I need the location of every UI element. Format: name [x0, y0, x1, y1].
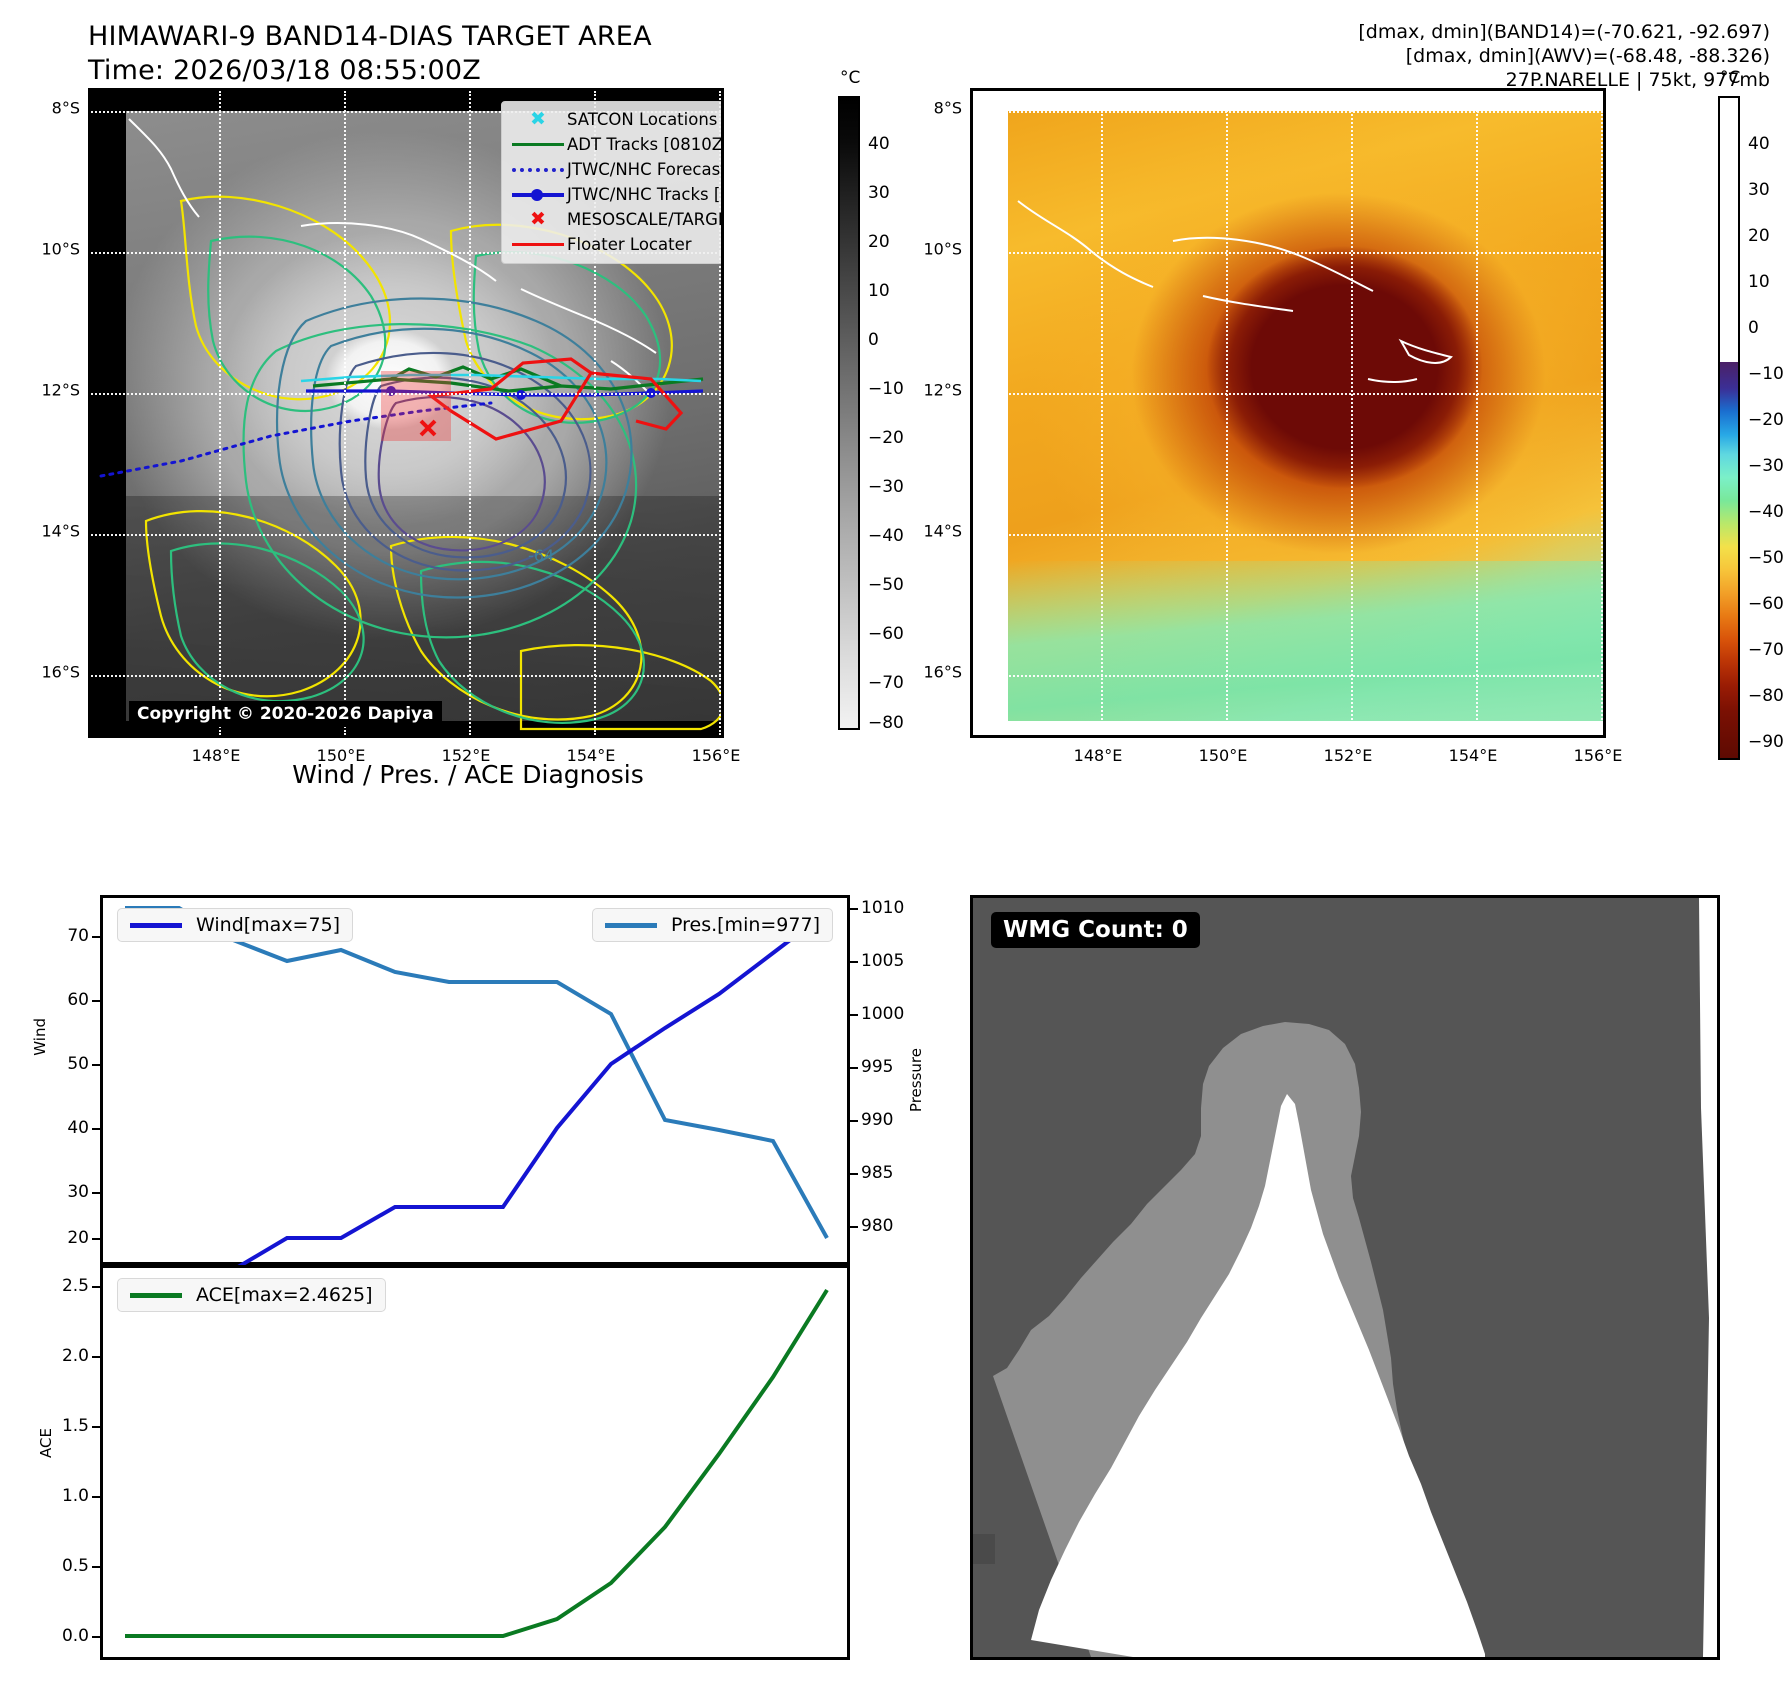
wind-line	[125, 912, 827, 1270]
wind-ytick: 70	[67, 926, 89, 946]
wmg-panel[interactable]: WMG Count: 0	[970, 895, 1720, 1660]
awv-lat-tick: 10°S	[923, 240, 962, 259]
wmg-image: WMG Count: 0	[973, 898, 1717, 1657]
awv-cbar-tick: −10	[1748, 364, 1784, 384]
awv-lon-tick: 150°E	[1199, 746, 1248, 765]
ace-tickmark	[92, 1426, 103, 1428]
pres-tickmark	[847, 908, 858, 910]
pres-ytick: 980	[861, 1216, 893, 1236]
pres-tickmark	[847, 1014, 858, 1016]
awv-gridline-lon-154e	[1476, 91, 1478, 735]
wmg-count-badge: WMG Count: 0	[991, 912, 1200, 948]
awv-cbar-tick: −60	[1748, 594, 1784, 614]
ir-gridline-lon-148e	[219, 91, 221, 735]
wind-tickmark	[92, 1238, 103, 1240]
wind-ytick: 20	[67, 1228, 89, 1248]
ir-map-panel[interactable]: -64	[88, 88, 724, 738]
awv-gridline-lon-148e	[1101, 91, 1103, 735]
awv-satellite-image	[973, 91, 1603, 735]
ir-gridline-lon-150e	[344, 91, 346, 735]
ace-ytick: 1.5	[62, 1416, 89, 1436]
ace-line	[125, 1290, 827, 1636]
ace-plot[interactable]: 2.5 2.0 1.5 1.0 0.5 0.0 ACE ACE[max=2.46…	[100, 1265, 850, 1660]
wind-tickmark	[92, 936, 103, 938]
wind-tickmark	[92, 1064, 103, 1066]
awv-lat-tick: 12°S	[923, 381, 962, 400]
wind-axis-label: Wind	[31, 1018, 49, 1056]
legend-item-satcon[interactable]: ✖ SATCON Locations [0530Z 65 984]	[509, 107, 721, 132]
awv-cbar-tick: −70	[1748, 640, 1784, 660]
awv-lat-tick: 8°S	[934, 99, 962, 118]
diagnosis-title: Wind / Pres. / ACE Diagnosis	[88, 760, 848, 789]
contour-value-label: -64	[528, 546, 554, 565]
wind-ytick: 30	[67, 1182, 89, 1202]
wind-legend[interactable]: Wind[max=75]	[117, 908, 353, 942]
awv-map-panel[interactable]	[970, 88, 1606, 738]
awv-colorbar-gradient	[1718, 96, 1740, 760]
ace-legend-label: ACE[max=2.4625]	[196, 1284, 373, 1306]
ir-satellite-image: -64	[91, 91, 721, 735]
awv-gridline-lat-10s	[973, 252, 1603, 254]
legend-item-jtwc-forecast[interactable]: JTWC/NHC Forecast [18/0000Z]	[509, 157, 721, 182]
legend-item-mesoscale[interactable]: ✖ MESOSCALE/TARGET Location	[509, 207, 721, 232]
legend-label-jtwc-tracks: JTWC/NHC Tracks [18/0600Z]	[567, 185, 721, 204]
awv-cbar-tick: −50	[1748, 548, 1784, 568]
ace-tickmark	[92, 1356, 103, 1358]
awv-lon-tick: 148°E	[1074, 746, 1123, 765]
legend-label-satcon: SATCON Locations [0530Z 65 984]	[567, 110, 721, 129]
x-marker-icon: ✖	[509, 210, 567, 229]
awv-gridline-lat-12s	[973, 393, 1603, 395]
awv-lon-tick: 156°E	[1574, 746, 1623, 765]
ace-ytick: 2.0	[62, 1346, 89, 1366]
legend-item-jtwc-tracks[interactable]: JTWC/NHC Tracks [18/0600Z]	[509, 182, 721, 207]
legend-label-floater: Floater Locater	[567, 235, 692, 254]
pressure-legend[interactable]: Pres.[min=977]	[592, 908, 833, 942]
ace-series	[103, 1268, 847, 1657]
ace-legend[interactable]: ACE[max=2.4625]	[117, 1278, 386, 1312]
x-marker-icon: ✖	[509, 110, 567, 129]
wind-pressure-series	[103, 898, 847, 1262]
legend-label-mesoscale: MESOSCALE/TARGET Location	[567, 210, 721, 229]
dmax-dmin-awv: [dmax, dmin](AWV)=(-68.48, -88.326)	[1358, 44, 1770, 68]
awv-lon-tick: 154°E	[1449, 746, 1498, 765]
ace-ytick: 0.5	[62, 1556, 89, 1576]
awv-cbar-tick: −90	[1748, 732, 1784, 752]
awv-gridline-lon-152e	[1351, 91, 1353, 735]
ir-gridline-lat-16s	[91, 675, 721, 677]
awv-cbar-tick: 20	[1748, 226, 1770, 246]
wind-pressure-plot[interactable]: 70 60 50 40 30 20 Wind 1010 1005 1000 99…	[100, 895, 850, 1265]
awv-cbar-tick: −40	[1748, 502, 1784, 522]
ir-gridline-lat-12s	[91, 393, 721, 395]
pres-tickmark	[847, 1226, 858, 1228]
wind-legend-label: Wind[max=75]	[196, 914, 340, 936]
pres-tickmark	[847, 1067, 858, 1069]
copyright-text: Copyright © 2020-2026 Dapiya	[129, 701, 442, 727]
awv-lat-tick: 14°S	[923, 522, 962, 541]
awv-colorbar-unit: °C	[1720, 68, 1740, 88]
dmax-dmin-band14: [dmax, dmin](BAND14)=(-70.621, -92.697)	[1358, 20, 1770, 44]
awv-gridline-lon-150e	[1226, 91, 1228, 735]
wind-ytick: 50	[67, 1054, 89, 1074]
awv-gridline-lat-8s	[973, 111, 1603, 113]
pres-ytick: 1000	[861, 1004, 904, 1024]
solid-line-icon	[509, 243, 567, 246]
ir-gridline-lat-14s	[91, 534, 721, 536]
title-product-line: HIMAWARI-9 BAND14-DIAS TARGET AREA	[88, 20, 848, 54]
awv-colorbar[interactable]: °C 40 30 20 10 0 −10 −20 −30 −40 −50 −60…	[1718, 68, 1792, 738]
ace-tickmark	[92, 1636, 103, 1638]
pressure-legend-label: Pres.[min=977]	[671, 914, 820, 936]
ace-ytick: 2.5	[62, 1276, 89, 1296]
legend-label-jtwc-forecast: JTWC/NHC Forecast [18/0000Z]	[567, 160, 721, 179]
pres-ytick: 995	[861, 1057, 893, 1077]
ir-lat-axis: 8°S 10°S 12°S 14°S 16°S	[0, 88, 80, 738]
line-with-dot-icon	[509, 193, 567, 197]
awv-cbar-tick: 40	[1748, 134, 1770, 154]
ir-lat-tick: 12°S	[41, 381, 80, 400]
pres-tickmark	[847, 961, 858, 963]
wind-tickmark	[92, 1000, 103, 1002]
ir-colorbar-unit: °C	[840, 68, 860, 88]
ace-ytick: 1.0	[62, 1486, 89, 1506]
awv-gridline-lat-16s	[973, 675, 1603, 677]
awv-lat-tick: 16°S	[923, 663, 962, 682]
pres-ytick: 985	[861, 1163, 893, 1183]
awv-coastline-overlay	[973, 91, 1603, 735]
ir-gridline-lon-152e	[469, 91, 471, 735]
awv-gridline-lon-156e	[1601, 91, 1603, 735]
ace-tickmark	[92, 1496, 103, 1498]
pres-ytick: 1005	[861, 951, 904, 971]
legend-label-adt: ADT Tracks [0810Z 74.6 981.6]	[567, 135, 721, 154]
awv-cbar-tick: −30	[1748, 456, 1784, 476]
wmg-notch	[973, 1534, 995, 1564]
pres-tickmark	[847, 1120, 858, 1122]
legend-item-adt[interactable]: ADT Tracks [0810Z 74.6 981.6]	[509, 132, 721, 157]
ace-tickmark	[92, 1286, 103, 1288]
wind-legend-swatch	[130, 923, 182, 928]
ir-cbar-tick: 0	[868, 330, 879, 350]
ace-tickmark	[92, 1566, 103, 1568]
pres-ytick: 1010	[861, 898, 904, 918]
target-area-box	[381, 371, 451, 441]
awv-cbar-tick: −20	[1748, 410, 1784, 430]
ir-map-legend[interactable]: ✖ SATCON Locations [0530Z 65 984] ADT Tr…	[501, 101, 721, 264]
pres-tickmark	[847, 1173, 858, 1175]
ace-legend-swatch	[130, 1293, 182, 1298]
pressure-legend-swatch	[605, 923, 657, 928]
awv-cbar-tick: 30	[1748, 180, 1770, 200]
dotted-line-icon	[509, 168, 567, 172]
wind-ytick: 60	[67, 990, 89, 1010]
ir-lat-tick: 10°S	[41, 240, 80, 259]
ace-axis-label: ACE	[37, 1428, 55, 1458]
awv-gridline-lat-14s	[973, 534, 1603, 536]
awv-lon-axis: 148°E 150°E 152°E 154°E 156°E	[970, 746, 1606, 772]
pressure-axis-label: Pressure	[907, 1048, 925, 1112]
ir-lat-tick: 8°S	[52, 99, 80, 118]
awv-lon-tick: 152°E	[1324, 746, 1373, 765]
ir-lat-tick: 16°S	[41, 663, 80, 682]
pressure-line	[125, 908, 827, 1238]
awv-lat-axis: 8°S 10°S 12°S 14°S 16°S	[882, 88, 962, 738]
title-time-line: Time: 2026/03/18 08:55:00Z	[88, 54, 848, 88]
pres-ytick: 990	[861, 1110, 893, 1130]
wind-tickmark	[92, 1192, 103, 1194]
wmg-shape-overlay	[973, 898, 1717, 1657]
ace-ytick: 0.0	[62, 1626, 89, 1646]
page-title: HIMAWARI-9 BAND14-DIAS TARGET AREA Time:…	[88, 20, 848, 88]
legend-item-floater[interactable]: Floater Locater	[509, 232, 721, 257]
header-stats: [dmax, dmin](BAND14)=(-70.621, -92.697) …	[1358, 20, 1770, 92]
ir-lat-tick: 14°S	[41, 522, 80, 541]
wind-ytick: 40	[67, 1118, 89, 1138]
wind-tickmark	[92, 1128, 103, 1130]
awv-cbar-tick: 0	[1748, 318, 1759, 338]
ir-colorbar-gradient	[838, 96, 860, 730]
solid-line-icon	[509, 143, 567, 146]
awv-cbar-tick: 10	[1748, 272, 1770, 292]
awv-cbar-tick: −80	[1748, 686, 1784, 706]
